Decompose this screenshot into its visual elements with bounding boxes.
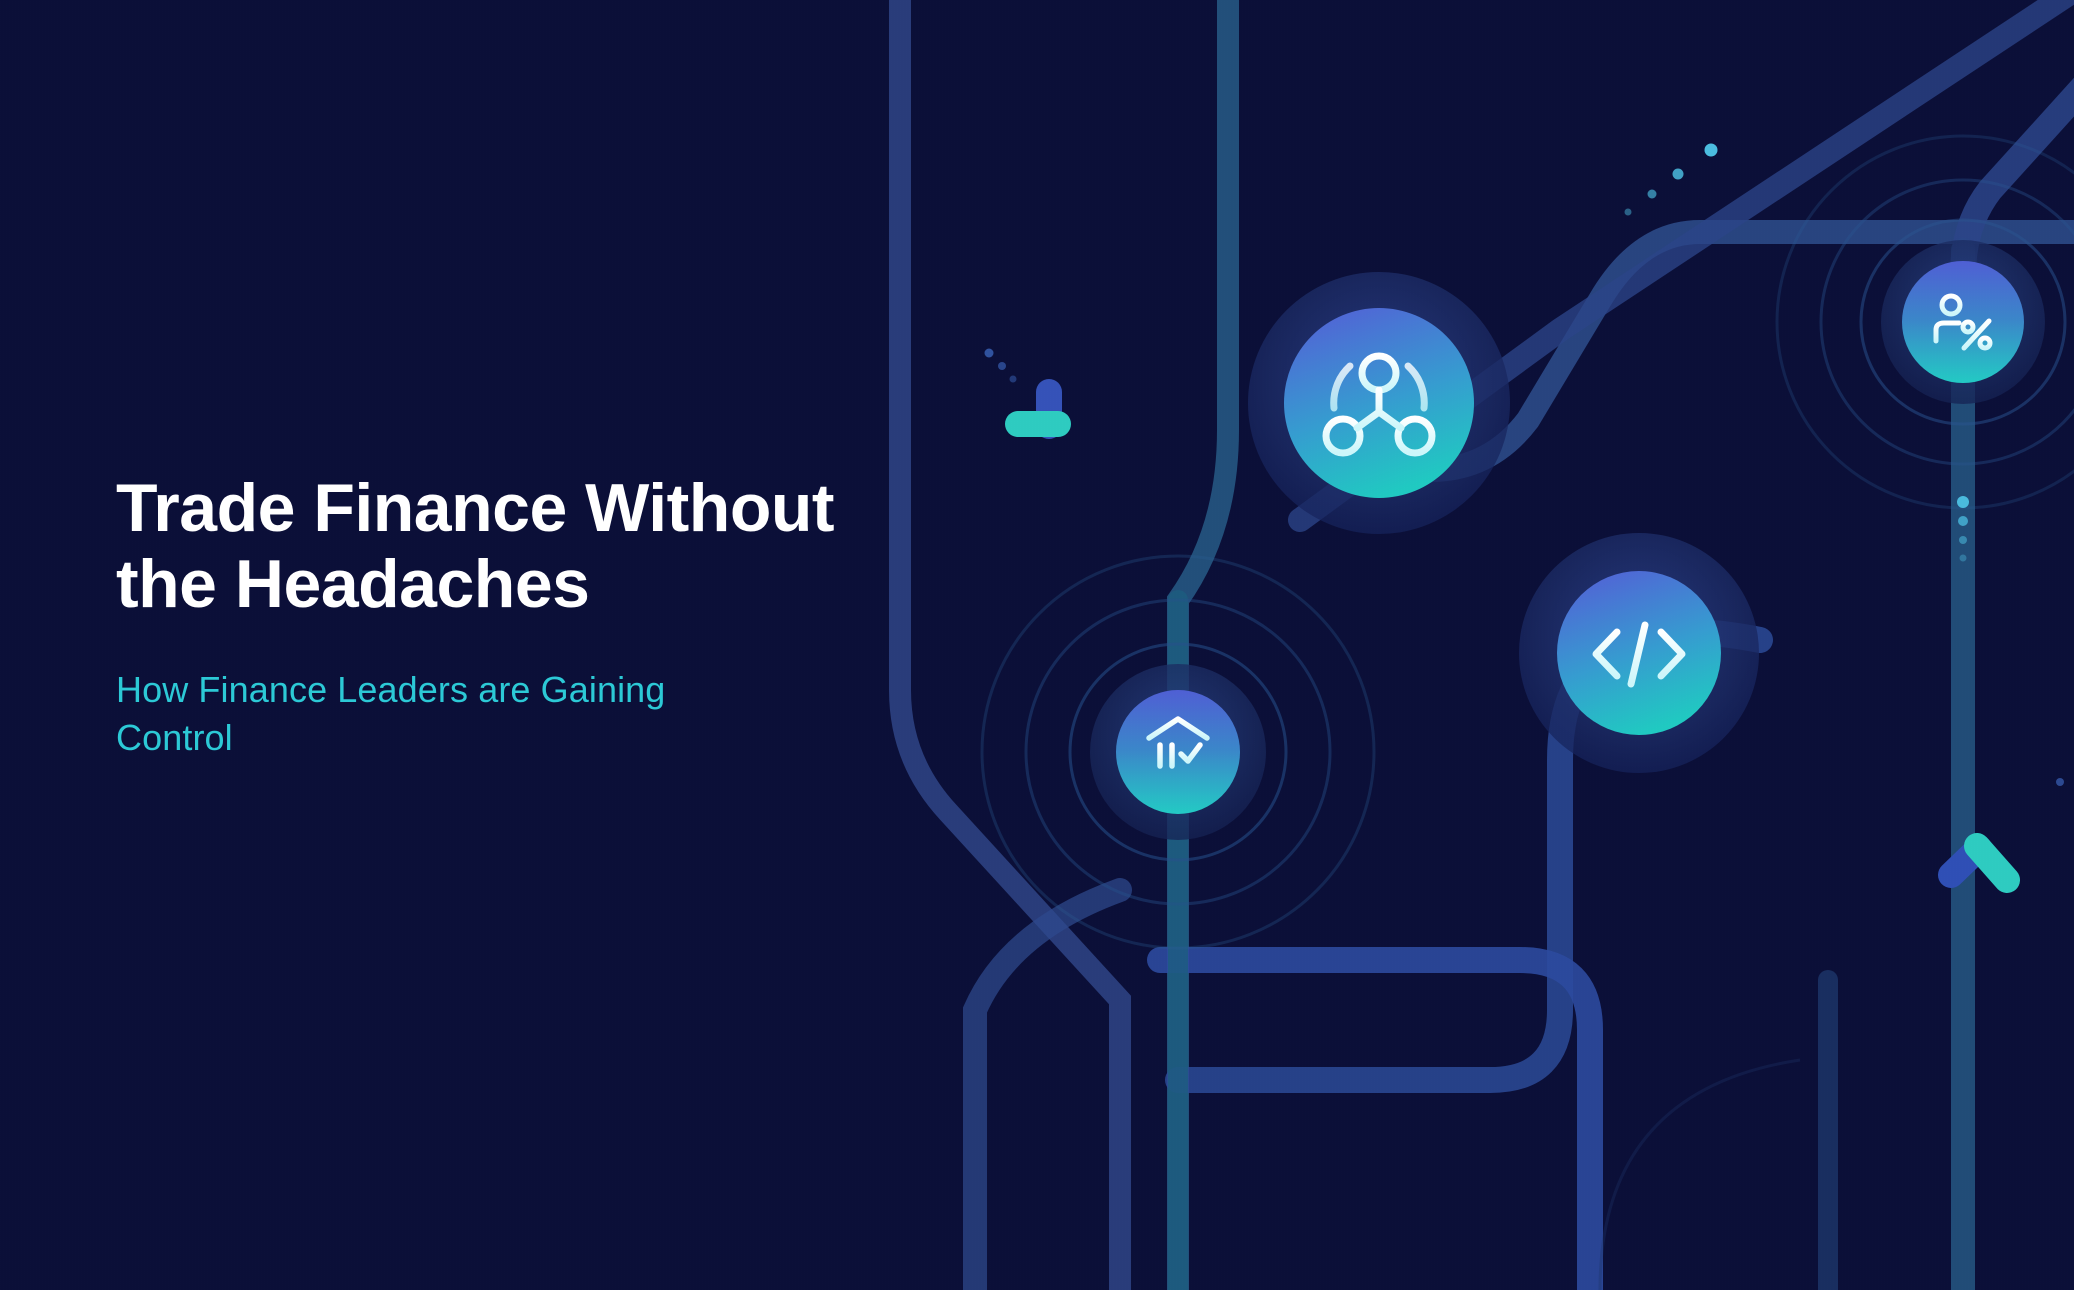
dot xyxy=(985,349,994,358)
bank-node-disc xyxy=(1116,690,1240,814)
dot xyxy=(998,362,1006,370)
stray-dot-right xyxy=(2056,778,2064,786)
dot xyxy=(1648,190,1657,199)
dot xyxy=(1960,555,1967,562)
page-title: Trade Finance Without the Headaches xyxy=(116,470,996,622)
dot xyxy=(1625,209,1632,216)
dot xyxy=(1010,376,1017,383)
dot xyxy=(1957,496,1969,508)
dot xyxy=(1705,144,1718,157)
hero-banner: Trade Finance Without the Headaches How … xyxy=(0,0,2074,1290)
rate-node-graphic xyxy=(1881,240,2045,404)
page-subtitle: How Finance Leaders are Gaining Control xyxy=(116,666,916,761)
dot xyxy=(1958,516,1968,526)
network-node-graphic xyxy=(1248,272,1510,534)
bank-node-graphic xyxy=(1090,664,1266,840)
code-node-graphic xyxy=(1519,533,1759,773)
dot xyxy=(1959,536,1967,544)
hero-copy-block: Trade Finance Without the Headaches How … xyxy=(116,470,1016,761)
dot xyxy=(1673,169,1684,180)
